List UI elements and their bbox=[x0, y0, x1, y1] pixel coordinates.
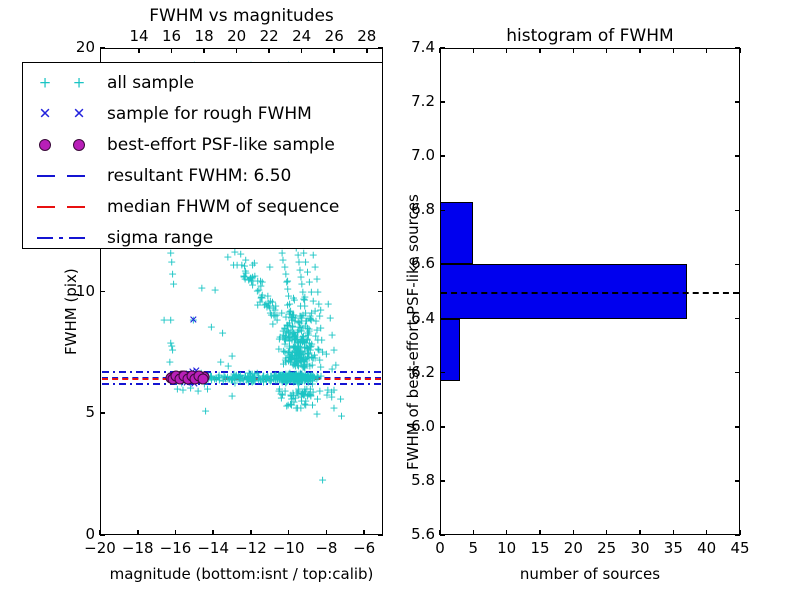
dashdot-line-icon bbox=[69, 237, 85, 239]
histogram-y-tick-label: 5.6 bbox=[398, 525, 435, 543]
dashdot-line-icon bbox=[37, 237, 53, 239]
histogram-resultant-fwhm-line bbox=[441, 292, 739, 294]
histogram-y-tick bbox=[440, 534, 445, 536]
scatter-top-tick bbox=[333, 48, 335, 53]
histogram-y-tick bbox=[440, 264, 445, 266]
histogram-x-tick bbox=[706, 530, 708, 535]
histogram-y-tick-right bbox=[735, 47, 740, 49]
histogram-y-tick-right bbox=[735, 426, 740, 428]
scatter-top-tick-label: 18 bbox=[188, 27, 220, 45]
histogram-y-tick-right bbox=[735, 480, 740, 482]
scatter-top-tick bbox=[171, 48, 173, 53]
legend-item[interactable]: median FHWM of sequence bbox=[23, 191, 382, 222]
scatter-y-tick bbox=[100, 47, 105, 49]
scatter-top-tick bbox=[236, 48, 238, 53]
dashdot-line-icon bbox=[23, 222, 107, 253]
histogram-y-tick bbox=[440, 101, 445, 103]
histogram-x-tick-top bbox=[539, 48, 541, 53]
histogram-x-tick-label: 5 bbox=[457, 539, 489, 557]
scatter-y-tick-right bbox=[378, 47, 383, 49]
legend-item[interactable]: resultant FWHM: 6.50 bbox=[23, 160, 382, 191]
plus-icon: ++ bbox=[23, 67, 107, 98]
dashed-line-red-icon bbox=[23, 191, 107, 222]
histogram-y-tick bbox=[440, 480, 445, 482]
scatter-top-tick-label: 16 bbox=[156, 27, 188, 45]
scatter-x-tick-label: −16 bbox=[159, 539, 191, 557]
dashdot-line-icon bbox=[59, 237, 63, 239]
histogram-x-tick bbox=[673, 530, 675, 535]
scatter-y-tick bbox=[100, 412, 105, 414]
histogram-x-tick-top bbox=[606, 48, 608, 53]
histogram-y-tick bbox=[440, 372, 445, 374]
plus-icon: + bbox=[73, 75, 86, 90]
scatter-x-tick-label: −18 bbox=[122, 539, 154, 557]
histogram-x-tick-label: 15 bbox=[524, 539, 556, 557]
histogram-x-tick bbox=[639, 530, 641, 535]
legend-item[interactable]: best-effort PSF-like sample bbox=[23, 129, 382, 160]
scatter-top-tick-label: 26 bbox=[318, 27, 350, 45]
scatter-top-tick-label: 14 bbox=[123, 27, 155, 45]
histogram-y-tick-label: 5.8 bbox=[398, 471, 435, 489]
histogram-y-tick-label: 7.2 bbox=[398, 92, 435, 110]
histogram-y-tick-right bbox=[735, 101, 740, 103]
scatter-y-tick-label: 5 bbox=[62, 403, 95, 421]
scatter-ylabel: FWHM (pix) bbox=[62, 268, 80, 355]
histogram-x-tick-label: 20 bbox=[557, 539, 589, 557]
scatter-x-tick bbox=[250, 530, 252, 535]
scatter-x-tick-label: −14 bbox=[197, 539, 229, 557]
scatter-title: FWHM vs magnitudes bbox=[100, 6, 383, 26]
histogram-title: histogram of FWHM bbox=[440, 26, 740, 46]
histogram-x-tick-top bbox=[473, 48, 475, 53]
histogram-x-tick-top bbox=[506, 48, 508, 53]
dashed-line-red-icon bbox=[37, 206, 55, 208]
histogram-y-tick bbox=[440, 426, 445, 428]
cross-x-icon: ✕✕ bbox=[23, 98, 107, 129]
legend-item-label: all sample bbox=[107, 73, 194, 93]
histogram-y-tick-label: 7.4 bbox=[398, 38, 435, 56]
scatter-x-tick-label: −10 bbox=[273, 539, 305, 557]
histogram-x-tick-top bbox=[673, 48, 675, 53]
scatter-x-tick bbox=[288, 530, 290, 535]
scatter-x-tick-label: −12 bbox=[235, 539, 267, 557]
cross-x-icon: ✕ bbox=[39, 106, 52, 121]
histogram-x-tick bbox=[539, 530, 541, 535]
median-fwhm-line bbox=[102, 378, 381, 380]
histogram-y-tick-right bbox=[735, 210, 740, 212]
histogram-y-tick-right bbox=[735, 372, 740, 374]
legend-item-label: sigma range bbox=[107, 228, 213, 248]
scatter-x-tick-label: −8 bbox=[310, 539, 342, 557]
scatter-x-tick bbox=[326, 530, 328, 535]
histogram-y-tick-right bbox=[735, 534, 740, 536]
dashed-line-blue-icon bbox=[23, 160, 107, 191]
scatter-top-tick-label: 22 bbox=[253, 27, 285, 45]
legend-box[interactable]: ++all sample✕✕sample for rough FWHMbest-… bbox=[22, 62, 383, 249]
sigma-range-line bbox=[102, 383, 381, 385]
histogram-y-tick-label: 7.0 bbox=[398, 146, 435, 164]
histogram-y-tick bbox=[440, 47, 445, 49]
histogram-x-tick-top bbox=[639, 48, 641, 53]
legend-item[interactable]: sigma range bbox=[23, 222, 382, 253]
scatter-x-tick-label: −6 bbox=[348, 539, 380, 557]
histogram-x-tick bbox=[573, 530, 575, 535]
dashed-line-red-icon bbox=[67, 206, 85, 208]
scatter-y-tick-label: 20 bbox=[62, 38, 95, 56]
dashed-line-blue-icon bbox=[67, 175, 85, 177]
scatter-top-tick-label: 20 bbox=[221, 27, 253, 45]
scatter-x-tick bbox=[363, 530, 365, 535]
scatter-top-tick bbox=[366, 48, 368, 53]
histogram-x-tick-label: 10 bbox=[491, 539, 523, 557]
dashed-line-blue-icon bbox=[37, 175, 55, 177]
legend-item[interactable]: ✕✕sample for rough FWHM bbox=[23, 98, 382, 129]
scatter-xlabel: magnitude (bottom:isnt / top:calib) bbox=[100, 565, 383, 583]
legend-item-label: median FHWM of sequence bbox=[107, 197, 339, 217]
histogram-y-tick bbox=[440, 155, 445, 157]
circle-icon bbox=[73, 139, 85, 151]
scatter-top-tick bbox=[138, 48, 140, 53]
scatter-y-tick bbox=[100, 291, 105, 293]
histogram-bar[interactable] bbox=[440, 202, 473, 264]
scatter-y-tick-label: 0 bbox=[62, 525, 95, 543]
legend-item-label: best-effort PSF-like sample bbox=[107, 135, 335, 155]
legend-item-label: sample for rough FWHM bbox=[107, 104, 312, 124]
histogram-y-tick-right bbox=[735, 155, 740, 157]
histogram-y-tick-right bbox=[735, 264, 740, 266]
scatter-top-tick-label: 28 bbox=[351, 27, 383, 45]
histogram-x-tick-label: 25 bbox=[591, 539, 623, 557]
histogram-x-tick bbox=[606, 530, 608, 535]
histogram-x-tick-label: 45 bbox=[724, 539, 756, 557]
histogram-ylabel: FWHM of best-effort PSF-like sources bbox=[404, 194, 422, 470]
histogram-x-tick-label: 30 bbox=[624, 539, 656, 557]
histogram-xlabel: number of sources bbox=[440, 565, 740, 583]
sigma-range-line bbox=[102, 371, 381, 373]
histogram-y-tick bbox=[440, 318, 445, 320]
histogram-x-tick-label: 35 bbox=[657, 539, 689, 557]
legend-item-label: resultant FWHM: 6.50 bbox=[107, 166, 291, 186]
scatter-x-tick bbox=[212, 530, 214, 535]
figure-canvas: FWHM vs magnitudes 1416182022242628 −20−… bbox=[0, 0, 800, 600]
scatter-top-tick-label: 24 bbox=[286, 27, 318, 45]
cross-x-icon: ✕ bbox=[73, 106, 86, 121]
scatter-x-tick bbox=[175, 530, 177, 535]
histogram-x-tick bbox=[506, 530, 508, 535]
histogram-x-tick bbox=[473, 530, 475, 535]
circle-icon bbox=[23, 129, 107, 160]
scatter-top-tick bbox=[301, 48, 303, 53]
histogram-y-tick bbox=[440, 210, 445, 212]
histogram-x-tick-top bbox=[706, 48, 708, 53]
circle-icon bbox=[39, 139, 51, 151]
scatter-top-tick bbox=[203, 48, 205, 53]
scatter-y-tick bbox=[100, 534, 105, 536]
scatter-top-tick bbox=[268, 48, 270, 53]
scatter-x-tick bbox=[137, 530, 139, 535]
scatter-y-tick-right bbox=[378, 291, 383, 293]
histogram-x-tick-label: 40 bbox=[691, 539, 723, 557]
scatter-y-tick-right bbox=[378, 534, 383, 536]
scatter-y-tick-right bbox=[378, 412, 383, 414]
legend-item[interactable]: ++all sample bbox=[23, 67, 382, 98]
histogram-x-tick-top bbox=[573, 48, 575, 53]
plus-icon: + bbox=[39, 75, 52, 90]
histogram-y-tick-right bbox=[735, 318, 740, 320]
